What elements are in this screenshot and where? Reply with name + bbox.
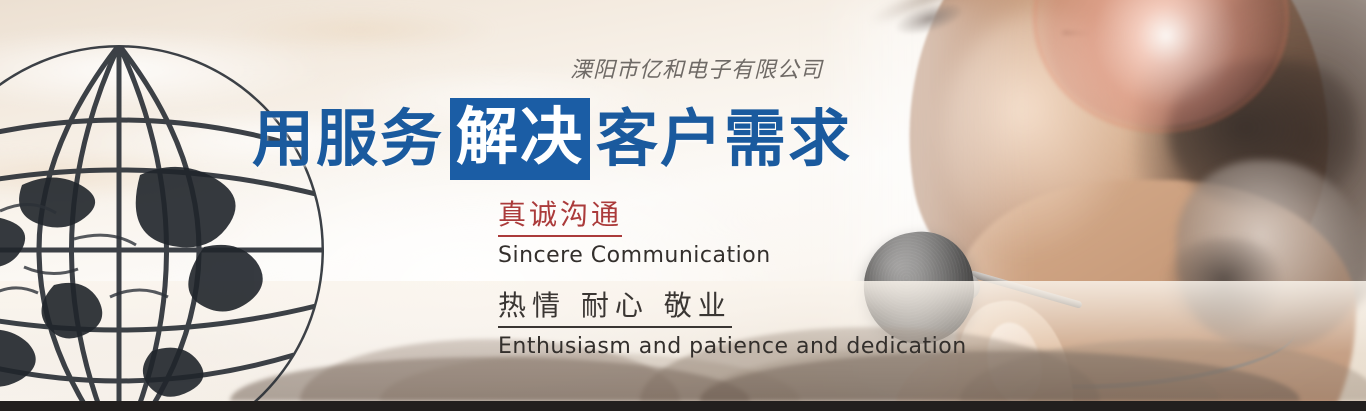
slogan-chinese: 热情 耐心 敬业 bbox=[498, 287, 732, 328]
headline-before: 用服务 bbox=[252, 102, 444, 176]
slogan-item: 真诚沟通 Sincere Communication bbox=[498, 196, 967, 271]
slogan-english: Enthusiasm and patience and dedication bbox=[498, 332, 967, 362]
page-title: 用服务 解决 客户需求 bbox=[252, 98, 852, 180]
slogan-item: 热情 耐心 敬业 Enthusiasm and patience and ded… bbox=[498, 287, 967, 362]
bottom-dark-strip bbox=[0, 401, 1366, 411]
slogan-english: Sincere Communication bbox=[498, 241, 967, 271]
wireframe-globe-graphic bbox=[0, 35, 334, 411]
promotional-banner: 溧阳市亿和电子有限公司 用服务 解决 客户需求 真诚沟通 Sincere Com… bbox=[0, 0, 1366, 411]
slogan-group: 真诚沟通 Sincere Communication 热情 耐心 敬业 Enth… bbox=[498, 196, 967, 374]
company-name: 溧阳市亿和电子有限公司 bbox=[570, 56, 823, 86]
headline-after: 客户需求 bbox=[596, 102, 852, 176]
headline-highlight: 解决 bbox=[450, 98, 590, 180]
slogan-chinese: 真诚沟通 bbox=[498, 196, 622, 237]
